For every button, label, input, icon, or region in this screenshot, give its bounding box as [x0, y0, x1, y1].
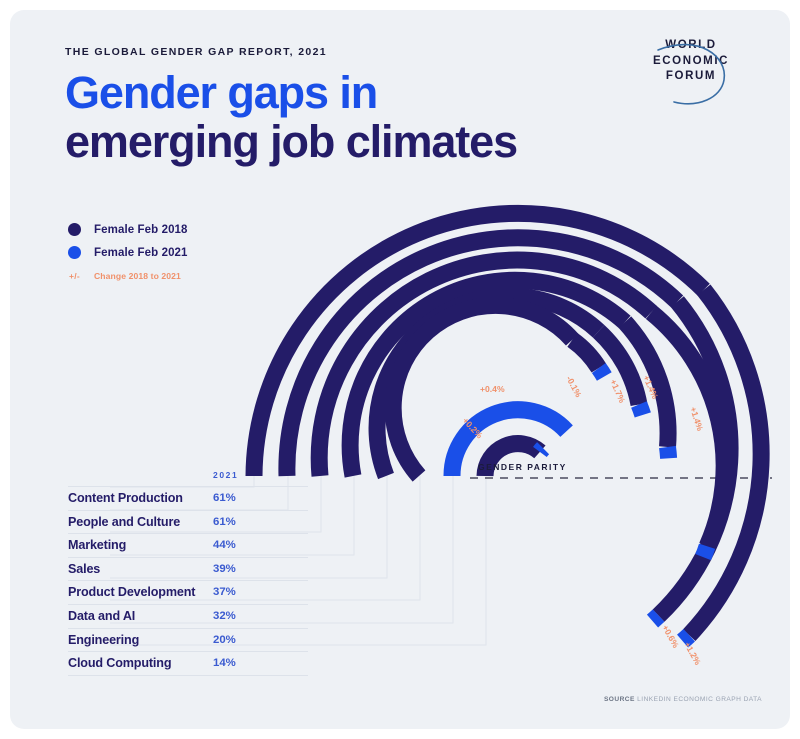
row-label: Product Development — [68, 585, 195, 599]
row-label: People and Culture — [68, 515, 180, 529]
row-value: 44% — [213, 539, 236, 551]
row-label: Cloud Computing — [68, 656, 171, 670]
change-label-data-and-ai: +1.4% — [688, 406, 705, 433]
source-label: SOURCE — [604, 696, 635, 703]
table-row: Engineering 20% — [68, 628, 308, 652]
row-label: Engineering — [68, 633, 139, 647]
table-row: Sales 39% — [68, 557, 308, 581]
change-label-marketing: -0.1% — [564, 374, 584, 399]
change-label-cloud-computing: +1.2% — [682, 640, 703, 667]
table-row: Data and AI 32% — [68, 604, 308, 628]
table-header: 2021 — [68, 468, 308, 486]
row-value: 39% — [213, 563, 236, 575]
table-row: Cloud Computing 14% — [68, 651, 308, 676]
row-value: 20% — [213, 634, 236, 646]
row-label: Sales — [68, 562, 100, 576]
row-value: 61% — [213, 516, 236, 528]
row-value: 14% — [213, 657, 236, 669]
row-value: 32% — [213, 610, 236, 622]
data-table: 2021 Content Production 61% People and C… — [68, 468, 308, 676]
row-label: Data and AI — [68, 609, 135, 623]
column-header-year: 2021 — [213, 470, 238, 480]
row-label: Content Production — [68, 491, 183, 505]
table-row: People and Culture 61% — [68, 510, 308, 534]
source-text: LINKEDIN ECONOMIC GRAPH DATA — [637, 696, 762, 703]
change-label-engineering: +0.6% — [660, 623, 681, 650]
source-footer: SOURCE LINKEDIN ECONOMIC GRAPH DATA — [604, 696, 762, 703]
table-row: Product Development 37% — [68, 580, 308, 604]
row-value: 61% — [213, 492, 236, 504]
row-value: 37% — [213, 586, 236, 598]
row-label: Marketing — [68, 538, 126, 552]
table-row: Marketing 44% — [68, 533, 308, 557]
gender-parity-label: GENDER PARITY — [478, 462, 567, 472]
change-label-people-and-culture: +0.4% — [480, 384, 505, 394]
infographic-card: THE GLOBAL GENDER GAP REPORT, 2021 Gende… — [10, 10, 790, 729]
table-row: Content Production 61% — [68, 486, 308, 510]
